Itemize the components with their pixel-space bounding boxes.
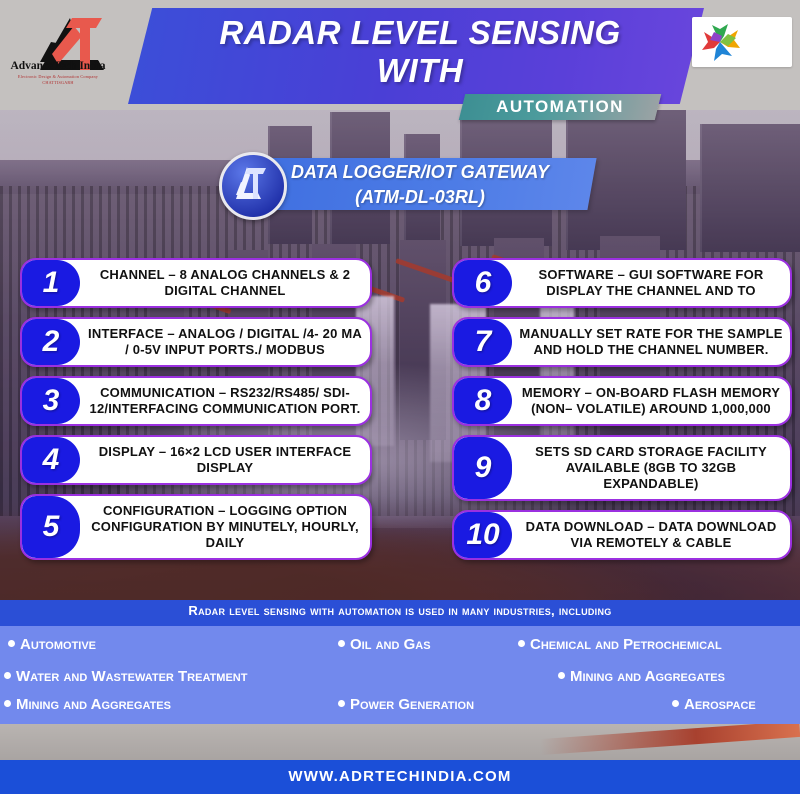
feature-text: SETS SD CARD STORAGE FACILITY AVAILABLE … xyxy=(512,437,790,499)
industry-item: Oil and Gas xyxy=(338,636,431,653)
page-title-line1: RADAR LEVEL SENSING xyxy=(219,14,620,51)
feature-card[interactable]: 8 MEMORY – ON-BOARD FLASH MEMORY (NON– V… xyxy=(452,376,792,426)
feature-text: CHANNEL – 8 ANALOG CHANNELS & 2 DIGITAL … xyxy=(80,260,370,306)
automation-badge-label: AUTOMATION xyxy=(462,95,658,119)
feature-number: 2 xyxy=(22,319,80,365)
feature-text: MEMORY – ON-BOARD FLASH MEMORY (NON– VOL… xyxy=(512,378,790,424)
industry-label: Chemical and Petrochemical xyxy=(530,636,722,653)
industry-label: Mining and Aggregates xyxy=(16,696,171,713)
feature-number: 7 xyxy=(454,319,512,365)
bullet-icon xyxy=(558,672,565,679)
feature-card[interactable]: 3 COMMUNICATION – RS232/RS485/ SDI-12/IN… xyxy=(20,376,372,426)
industries-list: Automotive Oil and Gas Chemical and Petr… xyxy=(0,626,800,724)
industry-label: Mining and Aggregates xyxy=(570,668,725,685)
decorative-streak xyxy=(540,724,800,755)
feature-text: DISPLAY – 16×2 LCD USER INTERFACE DISPLA… xyxy=(80,437,370,483)
industry-item: Mining and Aggregates xyxy=(4,696,171,713)
feature-card[interactable]: 9 SETS SD CARD STORAGE FACILITY AVAILABL… xyxy=(452,435,792,501)
feature-card[interactable]: 1 CHANNEL – 8 ANALOG CHANNELS & 2 DIGITA… xyxy=(20,258,372,308)
feature-card[interactable]: 4 DISPLAY – 16×2 LCD USER INTERFACE DISP… xyxy=(20,435,372,485)
page-title: RADAR LEVEL SENSING WITH xyxy=(150,14,690,90)
logo-company-name: AdvanceTech India xyxy=(8,60,108,72)
feature-text: COMMUNICATION – RS232/RS485/ SDI-12/INTE… xyxy=(80,378,370,424)
brand-monogram-icon xyxy=(228,165,272,205)
infographic-poster: AdvanceTech India Electronic Design & Au… xyxy=(0,0,800,794)
feature-text: MANUALLY SET RATE FOR THE SAMPLE AND HOL… xyxy=(512,319,790,365)
feature-number: 8 xyxy=(454,378,512,424)
industry-label: Oil and Gas xyxy=(350,636,431,653)
feature-number: 5 xyxy=(22,496,80,558)
logo-tagline-line2: CHATTISGARH xyxy=(42,80,73,85)
industry-item: Automotive xyxy=(8,636,96,653)
page-title-line2: WITH xyxy=(377,52,463,89)
features-column-left: 1 CHANNEL – 8 ANALOG CHANNELS & 2 DIGITA… xyxy=(20,258,372,569)
features-column-right: 6 SOFTWARE – GUI SOFTWARE FOR DISPLAY TH… xyxy=(452,258,792,569)
bullet-icon xyxy=(518,640,525,647)
feature-number: 3 xyxy=(22,378,80,424)
feature-card[interactable]: 5 CONFIGURATION – LOGGING OPTION CONFIGU… xyxy=(20,494,372,560)
industry-item: Chemical and Petrochemical xyxy=(518,636,722,653)
feature-card[interactable]: 7 MANUALLY SET RATE FOR THE SAMPLE AND H… xyxy=(452,317,792,367)
feature-number: 9 xyxy=(454,437,512,499)
footer-gap xyxy=(0,724,800,760)
industry-item: Aerospace xyxy=(672,696,756,713)
feature-card[interactable]: 10 DATA DOWNLOAD – DATA DOWNLOAD VIA REM… xyxy=(452,510,792,560)
brand-circle-badge xyxy=(219,152,287,220)
website-url[interactable]: WWW.ADRTECHINDIA.COM xyxy=(0,768,800,785)
logo-tagline-line1: Electronic Design & Automation Company xyxy=(18,74,98,79)
bullet-icon xyxy=(4,672,11,679)
logo-tagline: Electronic Design & Automation Company C… xyxy=(8,74,108,86)
bullet-icon xyxy=(8,640,15,647)
feature-card[interactable]: 2 INTERFACE – ANALOG / DIGITAL /4- 20 MA… xyxy=(20,317,372,367)
gem-star-icon xyxy=(698,20,742,64)
industry-item: Mining and Aggregates xyxy=(558,668,725,685)
bullet-icon xyxy=(672,700,679,707)
industry-label: Power Generation xyxy=(350,696,474,713)
product-banner-text: DATA LOGGER/IOT GATEWAY (ATM-DL-03RL) xyxy=(250,160,590,210)
gem-logo: GeM Government e Marketplace xyxy=(692,17,792,67)
feature-text: INTERFACE – ANALOG / DIGITAL /4- 20 MA /… xyxy=(80,319,370,365)
feature-number: 6 xyxy=(454,260,512,306)
feature-text: SOFTWARE – GUI SOFTWARE FOR DISPLAY THE … xyxy=(512,260,790,306)
product-banner-line1: DATA LOGGER/IOT GATEWAY xyxy=(291,162,549,182)
feature-number: 10 xyxy=(454,512,512,558)
bullet-icon xyxy=(338,700,345,707)
feature-text: CONFIGURATION – LOGGING OPTION CONFIGURA… xyxy=(80,496,370,558)
feature-number: 1 xyxy=(22,260,80,306)
industry-label: Automotive xyxy=(20,636,96,653)
feature-number: 4 xyxy=(22,437,80,483)
industries-heading: Radar level sensing with automation is u… xyxy=(0,603,800,618)
bullet-icon xyxy=(4,700,11,707)
industry-label: Water and Wastewater Treatment xyxy=(16,668,247,685)
bullet-icon xyxy=(338,640,345,647)
product-banner-line2: (ATM-DL-03RL) xyxy=(355,187,485,207)
feature-card[interactable]: 6 SOFTWARE – GUI SOFTWARE FOR DISPLAY TH… xyxy=(452,258,792,308)
industry-item: Water and Wastewater Treatment xyxy=(4,668,247,685)
industry-label: Aerospace xyxy=(684,696,756,713)
feature-text: DATA DOWNLOAD – DATA DOWNLOAD VIA REMOTE… xyxy=(512,512,790,558)
industry-item: Power Generation xyxy=(338,696,474,713)
